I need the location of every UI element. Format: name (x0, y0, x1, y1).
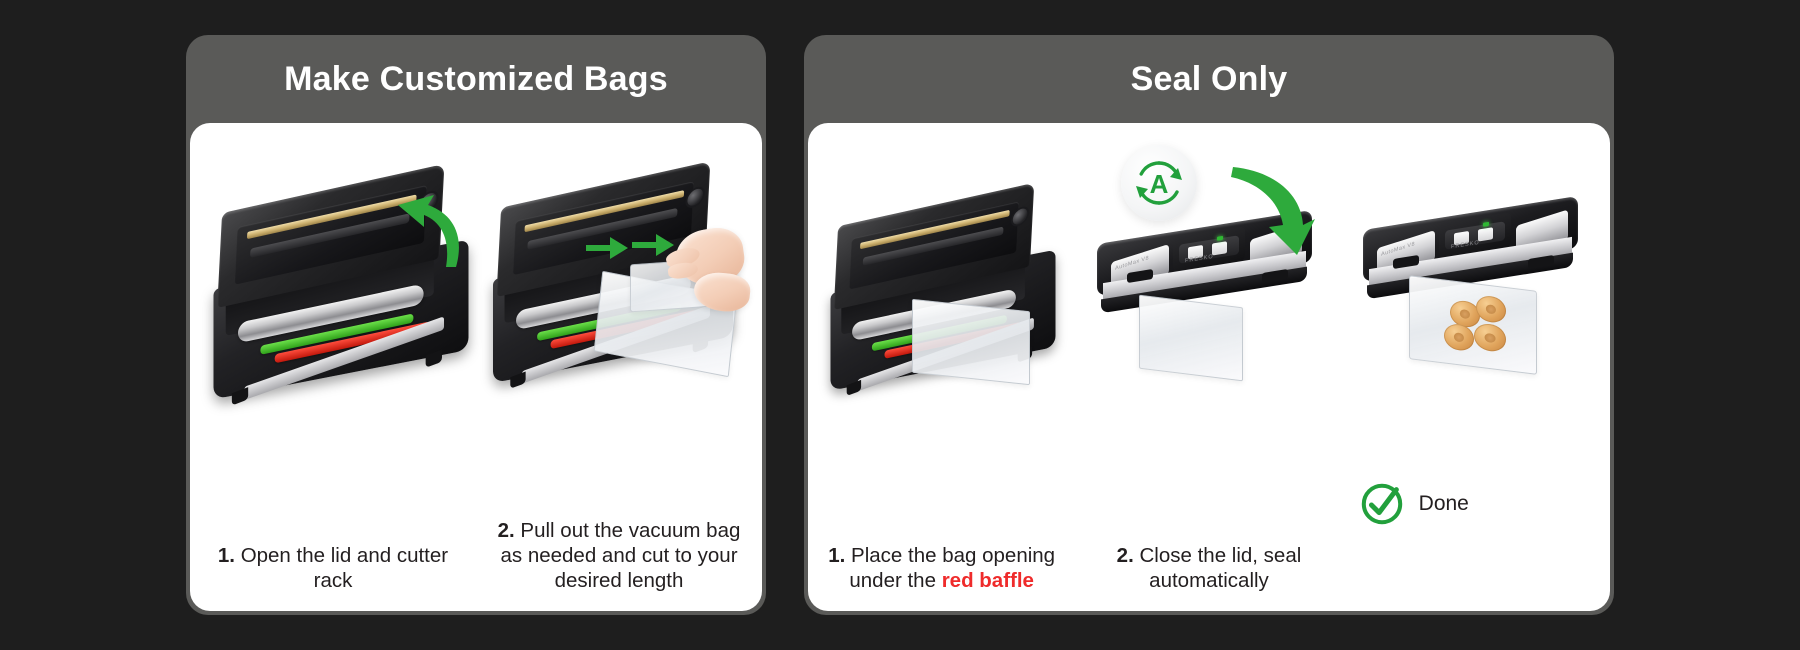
art-sealer-closed-sealing: A AutoMax V8 (1079, 133, 1338, 539)
art-sealer-with-bag-inserted (812, 133, 1071, 539)
step-text-line1: Place the bag opening (851, 544, 1055, 567)
step-text: Open the lid and cutter rack (241, 544, 448, 592)
panel-title-left: Make Customized Bags (284, 60, 668, 99)
auto-mode-badge: A (1121, 145, 1197, 221)
infographic-root: Make Customized Bags (0, 0, 1800, 650)
status-led (1217, 236, 1223, 241)
step-number: 1. (218, 544, 235, 567)
done-label: Done (1419, 492, 1469, 516)
caption-step-1-right: 1. Place the bag opening under the red b… (812, 543, 1071, 593)
green-curved-arrow-up-left-icon (390, 193, 470, 273)
auto-rotate-a-icon: A (1132, 156, 1186, 210)
vacuum-bag-being-sealed (1139, 295, 1243, 382)
panel-body-left: 1. Open the lid and cutter rack (190, 123, 762, 611)
caption-step-2-left: 2. Pull out the vacuum bag as needed and… (487, 518, 752, 593)
donut-2 (1476, 294, 1506, 324)
done-status: Done (1359, 481, 1469, 527)
step-number: 2. (1117, 544, 1134, 567)
step-number: 1. (828, 544, 845, 567)
green-curved-arrow-down-right-icon (1229, 163, 1319, 259)
step-open-lid: 1. Open the lid and cutter rack (190, 123, 476, 611)
green-double-arrow-right-icon (584, 231, 680, 265)
device-foot-left (510, 372, 525, 389)
device-foot-left (847, 380, 861, 396)
status-led (1483, 222, 1489, 227)
art-vacuum-sealer-with-hand (480, 133, 758, 514)
sealed-food-bag (1409, 275, 1537, 375)
step-text: Pull out the vacuum bag as needed and cu… (500, 519, 740, 592)
device-foot-right (426, 349, 442, 367)
panel-title-right: Seal Only (1131, 60, 1288, 99)
vacuum-bag-inserted (912, 299, 1030, 385)
red-baffle-highlight: red baffle (942, 569, 1034, 592)
step-pull-out-bag: 2. Pull out the vacuum bag as needed and… (476, 123, 762, 611)
art-vacuum-sealer-open-lid (194, 133, 472, 539)
control-button-2[interactable] (1478, 227, 1493, 241)
panel-seal-only: Seal Only (804, 35, 1614, 615)
step-close-lid-seal: A AutoMax V8 (1075, 123, 1342, 611)
green-check-circle-icon (1359, 481, 1405, 527)
step-number: 2. (498, 519, 515, 542)
control-button-2[interactable] (1212, 241, 1227, 255)
auto-badge-letter: A (1150, 169, 1169, 199)
step-text: Close the lid, seal automatically (1139, 544, 1301, 592)
donut-4 (1474, 322, 1506, 353)
panel-make-customized-bags: Make Customized Bags (186, 35, 766, 615)
panel-header-right: Seal Only (804, 35, 1614, 123)
caption-step-1-left: 1. Open the lid and cutter rack (201, 543, 466, 593)
panel-body-right: 1. Place the bag opening under the red b… (808, 123, 1610, 611)
step-place-bag-opening: 1. Place the bag opening under the red b… (808, 123, 1075, 611)
device-foot-left (232, 387, 248, 405)
caption-step-2-right: 2. Close the lid, seal automatically (1079, 543, 1338, 593)
step-text-line2-prefix: under the (849, 569, 941, 592)
step-done: AutoMax V8 FRESKO (1343, 123, 1610, 611)
panel-header-left: Make Customized Bags (186, 35, 766, 123)
